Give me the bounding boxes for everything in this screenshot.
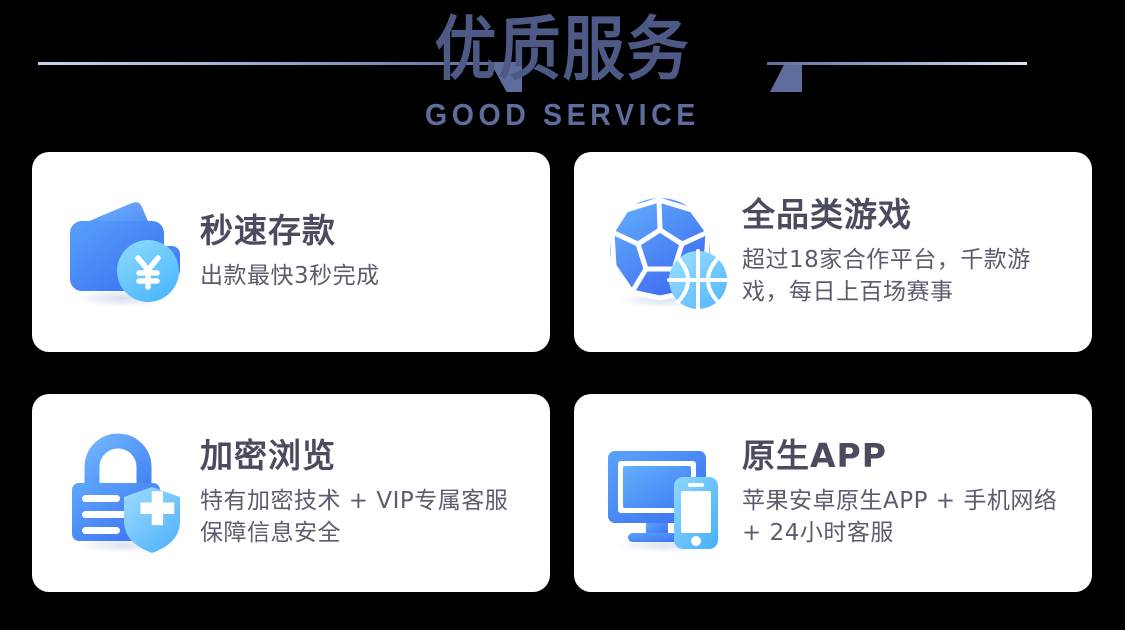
card-title: 原生APP <box>742 436 1070 476</box>
card-text-group: 秒速存款 出款最快3秒完成 <box>190 211 528 292</box>
feature-card-native-app[interactable]: 原生APP 苹果安卓原生APP + 手机网络 + 24小时客服 <box>574 394 1092 592</box>
wallet-yen-icon <box>58 186 190 318</box>
feature-card-grid: 秒速存款 出款最快3秒完成 <box>32 152 1092 592</box>
card-description: 特有加密技术 + VIP专属客服保障信息安全 <box>200 485 528 550</box>
page-title: 优质服务 <box>434 8 690 90</box>
card-description: 苹果安卓原生APP + 手机网络 + 24小时客服 <box>742 485 1070 550</box>
card-text-group: 加密浏览 特有加密技术 + VIP专属客服保障信息安全 <box>190 436 528 550</box>
header-text-group: 优质服务 GOOD SERVICE <box>0 8 1125 133</box>
card-title: 全品类游戏 <box>742 195 1070 235</box>
card-description: 出款最快3秒完成 <box>200 260 528 293</box>
feature-card-games[interactable]: 全品类游戏 超过18家合作平台，千款游戏，每日上百场赛事 <box>574 152 1092 352</box>
lock-shield-icon <box>58 427 190 559</box>
monitor-phone-icon <box>600 427 732 559</box>
promo-banner: 优质服务 GOOD SERVICE <box>0 0 1125 630</box>
card-title: 秒速存款 <box>200 211 528 251</box>
banner-header: 优质服务 GOOD SERVICE <box>0 0 1125 140</box>
card-text-group: 全品类游戏 超过18家合作平台，千款游戏，每日上百场赛事 <box>732 195 1070 309</box>
feature-card-encryption[interactable]: 加密浏览 特有加密技术 + VIP专属客服保障信息安全 <box>32 394 550 592</box>
page-subtitle: GOOD SERVICE <box>425 97 700 133</box>
card-description: 超过18家合作平台，千款游戏，每日上百场赛事 <box>742 244 1070 309</box>
soccer-basketball-icon <box>600 186 732 318</box>
card-title: 加密浏览 <box>200 436 528 476</box>
card-text-group: 原生APP 苹果安卓原生APP + 手机网络 + 24小时客服 <box>732 436 1070 550</box>
feature-card-deposit[interactable]: 秒速存款 出款最快3秒完成 <box>32 152 550 352</box>
